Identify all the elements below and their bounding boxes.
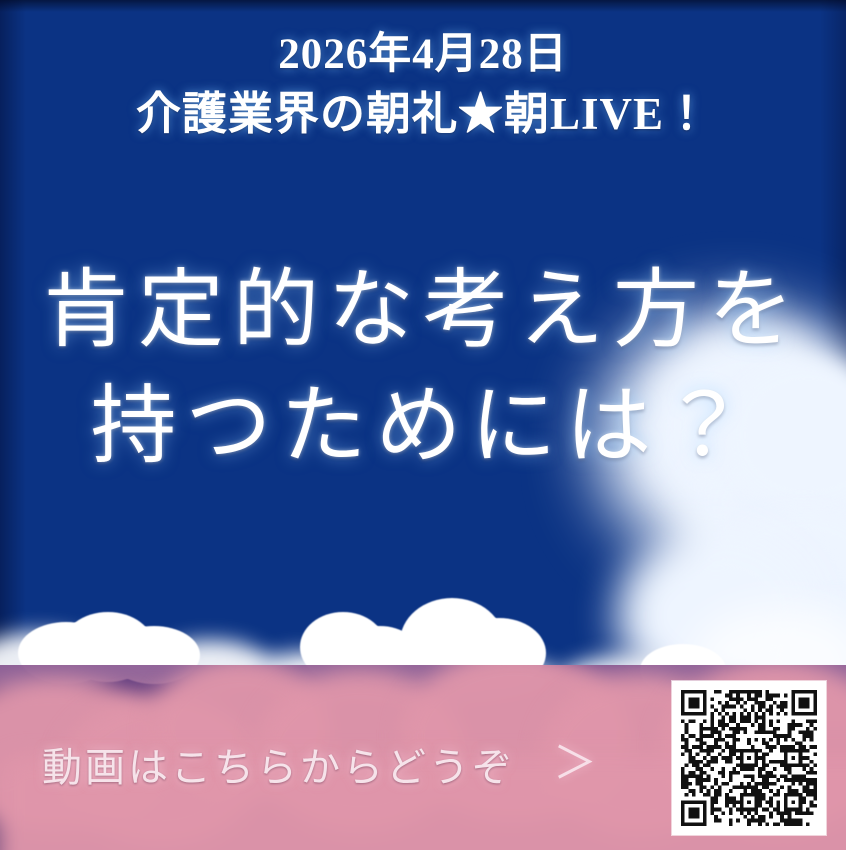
program-title: 介護業界の朝礼★朝LIVE！ (0, 91, 846, 138)
header-block: 2026年4月28日 介護業界の朝礼★朝LIVE！ (0, 32, 846, 138)
poster-root: 2026年4月28日 介護業界の朝礼★朝LIVE！ 肯定的な考え方を 持つために… (0, 0, 846, 850)
sky-top-vignette (0, 0, 846, 12)
chevron-right-icon[interactable]: ＞ (553, 742, 597, 786)
qr-code-canvas[interactable] (681, 690, 817, 826)
title-line-1: 肯定的な考え方を (0, 252, 846, 368)
cta-row[interactable]: 動画はこちらからどうぞ ＞ (42, 735, 597, 793)
page-title: 肯定的な考え方を 持つためには？ (0, 252, 846, 484)
cta-label[interactable]: 動画はこちらからどうぞ (42, 735, 515, 793)
event-date: 2026年4月28日 (0, 32, 846, 77)
title-line-2: 持つためには？ (0, 368, 846, 484)
qr-code[interactable] (672, 681, 826, 835)
